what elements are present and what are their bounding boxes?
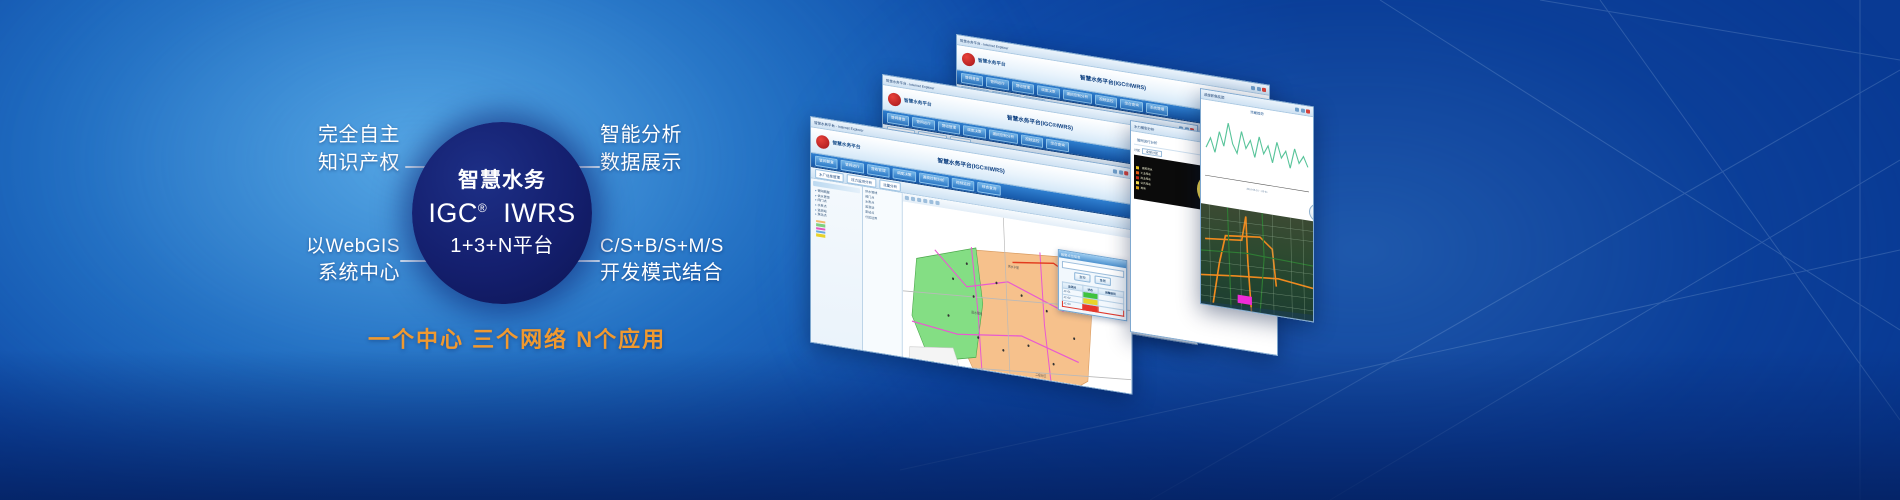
satellite-map-panel[interactable]	[1201, 203, 1313, 322]
nav-item-2[interactable]: 营收管理	[867, 163, 890, 177]
nav-item-7[interactable]: 系统管理	[1146, 102, 1168, 116]
label-bottom-left: 以WebGIS 系统中心	[200, 234, 400, 288]
reset-button[interactable]: 重置	[1095, 275, 1111, 286]
core-title: 智慧水务	[458, 170, 546, 191]
nav-item-2[interactable]: 营收管理	[1012, 81, 1034, 95]
core-product-name: IGC® IWRS	[428, 200, 575, 227]
label-top-left: 完全自主 知识产权	[200, 122, 400, 177]
platform-title: 智慧水务平台(IGC®IWRS)	[938, 156, 1005, 175]
svg-text:管网普查区: 管网普查区	[937, 378, 951, 386]
label-top-right-line2: 数据展示	[600, 150, 682, 178]
road-overlay	[1201, 203, 1313, 322]
analysis-filter-label: 分区	[1134, 148, 1140, 153]
nav-item-6[interactable]: 综合查询	[1120, 98, 1142, 112]
nav-item-0[interactable]: 管网普查	[815, 155, 838, 169]
select-icon[interactable]	[923, 199, 927, 204]
zoom-in-icon[interactable]	[911, 197, 915, 202]
layer-tree[interactable]: 管网图层 供水管线 阀门点 水表点 监测站 泵站点	[813, 188, 860, 224]
app-screenshot-stack: 智慧水务平台 - Internet Explorer 智慧水务平台 智慧水务平台…	[800, 0, 1900, 500]
nav-item-5[interactable]: 视频监控	[1095, 94, 1117, 108]
measure-icon[interactable]	[929, 200, 933, 205]
company-logo-icon	[888, 91, 901, 106]
company-logo-icon	[962, 51, 975, 66]
legend-swatch-4	[816, 234, 825, 238]
brand-name: 智慧水务平台	[904, 98, 932, 108]
platform-title: 智慧水务平台(IGC®IWRS)	[1007, 113, 1073, 132]
nav-item-6[interactable]: 综合查询	[1046, 138, 1068, 152]
nav-item-6[interactable]: 综合查询	[978, 181, 1001, 195]
company-logo-icon	[816, 134, 829, 149]
banner-stage: 完全自主 知识产权 智能分析 数据展示 以WebGIS 系统中心 C/S+B/S…	[0, 0, 1900, 500]
label-bottom-left-line2: 系统中心	[200, 260, 400, 288]
window-controls[interactable]	[1295, 107, 1310, 113]
layer-panel[interactable]: 管网图层 供水管线 阀门点 水表点 监测站 泵站点	[811, 178, 863, 394]
query-button[interactable]: 查询	[1074, 272, 1090, 283]
core-ellipse: 智慧水务 IGC® IWRS 1+3+N平台	[412, 122, 592, 304]
window-titlebar-text: 水力模型分析	[1134, 124, 1154, 132]
label-top-right-line1: 智能分析	[600, 122, 682, 150]
alarm-dialog[interactable]: 报警点位信息 查询 重置 监测点 状态 报警级别	[1058, 249, 1127, 321]
nav-item-0[interactable]: 管网普查	[887, 112, 909, 126]
brand-name: 智慧水务平台	[978, 58, 1006, 68]
pie-legend-label-4: 其他	[1141, 186, 1146, 191]
zoom-out-icon[interactable]	[917, 198, 921, 203]
trend-vertical-scrollbar[interactable]	[1313, 141, 1314, 201]
label-top-right: 智能分析 数据展示	[600, 122, 682, 177]
nav-item-3[interactable]: 调度决策	[1037, 85, 1059, 99]
alarm-r2-status	[1082, 303, 1097, 312]
window-controls[interactable]	[1251, 85, 1266, 91]
concept-diagram: 完全自主 知识产权 智能分析 数据展示 以WebGIS 系统中心 C/S+B/S…	[0, 0, 820, 500]
core-product-suffix: IWRS	[503, 198, 576, 228]
window-controls[interactable]	[1113, 169, 1128, 176]
nav-item-1[interactable]: 管网运行	[912, 116, 934, 130]
pie-legend: 居民用水 工业用水 商业用水 公共用水 其他	[1136, 165, 1152, 192]
pan-icon[interactable]	[905, 196, 909, 201]
platform-title: 智慧水务平台(IGC®IWRS)	[1080, 73, 1146, 92]
print-icon[interactable]	[935, 201, 939, 206]
label-top-left-line2: 知识产权	[200, 150, 400, 178]
core-product-prefix: IGC	[428, 198, 478, 228]
tagline: 一个中心 三个网络 N个应用	[368, 322, 666, 354]
legend-swatches	[813, 219, 860, 243]
nav-item-2[interactable]: 营收管理	[938, 121, 960, 135]
label-bottom-right: C/S+B/S+M/S 开发模式结合	[600, 234, 724, 288]
trend-chart-panel: 流量趋势 2016-05-01 ~ 05-31	[1201, 99, 1313, 221]
window-titlebar-text: 遥感影像底图	[1204, 92, 1224, 100]
feature-list-panel[interactable]: 供水管线 阀门点 水表点 监测站 泵站点 分区边界	[863, 187, 903, 395]
alarm-dialog-content: 查询 重置 监测点 状态 报警级别 JC-01	[1059, 257, 1126, 319]
nav-item-5[interactable]: 视频监控	[1021, 134, 1043, 148]
label-bottom-right-line2: 开发模式结合	[600, 260, 724, 288]
core-platform: 1+3+N平台	[450, 236, 554, 256]
nav-item-1[interactable]: 管网运行	[986, 76, 1008, 90]
nav-item-3[interactable]: 调度决策	[893, 168, 916, 182]
nav-item-1[interactable]: 管网运行	[841, 159, 864, 173]
trend-window[interactable]: 遥感影像底图 流量趋势 2016-05-01 ~ 05-31	[1200, 88, 1314, 322]
brand-name: 智慧水务平台	[832, 140, 860, 150]
nav-item-3[interactable]: 调度决策	[963, 125, 985, 139]
label-bottom-right-line1: C/S+B/S+M/S	[600, 234, 724, 260]
label-top-left-line1: 完全自主	[200, 122, 400, 150]
registered-icon: ®	[478, 201, 487, 215]
nav-item-0[interactable]: 管网普查	[961, 72, 983, 86]
label-bottom-left-line1: 以WebGIS	[200, 234, 400, 260]
nav-item-5[interactable]: 视频监控	[952, 177, 975, 191]
